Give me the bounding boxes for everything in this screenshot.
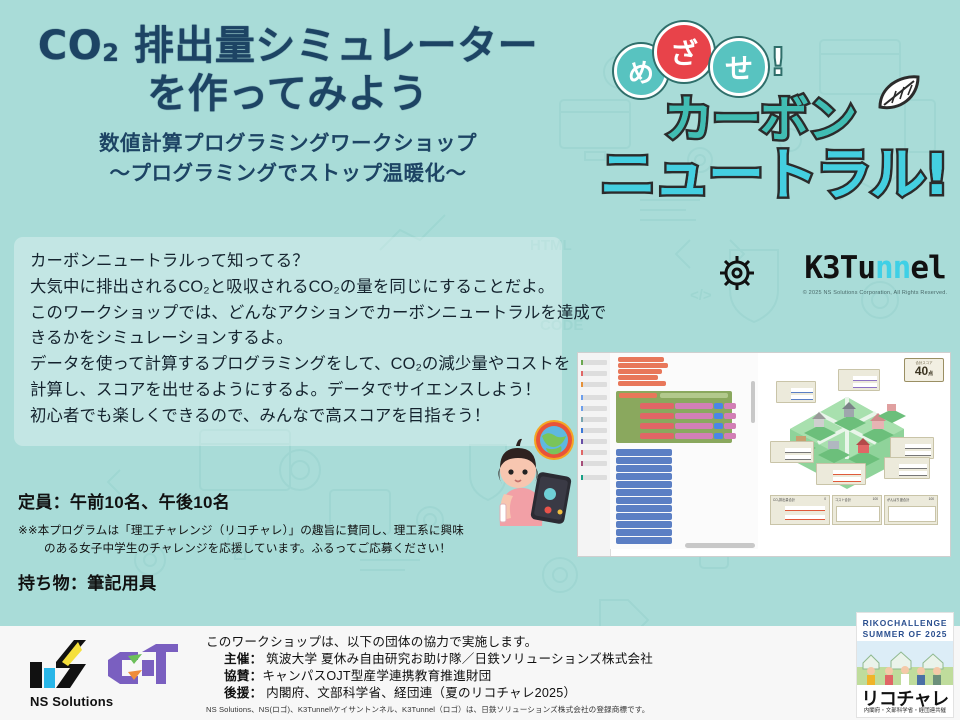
footer-row-label: 主催： [224, 652, 262, 666]
total-label: コスト合計 [835, 497, 851, 502]
screenshot-score-box: 合計スコア 40点 [904, 358, 944, 382]
footer-row-value: キャンパスOJT型産学連携教育推進財団 [262, 669, 491, 683]
disclaimer-line-2: のある女子中学生のチャレンジを応援しています。ふるってご応募ください！ [18, 540, 578, 558]
footer-trademark-notice: NS Solutions、NS(ロゴ)、K3Tunnel\ケイサントンネル、K3… [206, 704, 649, 715]
ns-solutions-logo [26, 638, 96, 694]
k3-part2: nn [875, 250, 910, 286]
k3tunnel-logo: K3Tunnel © 2025 NS Solutions Corporation… [800, 250, 950, 296]
description-line: このワークショップでは、どんなアクションでカーボンニュートラルを達成で [30, 301, 546, 327]
riko-sub: 内閣府・文部科学省・経団連共催 [857, 706, 953, 714]
k3-part3: el [910, 250, 945, 286]
logo-neutral: ニュートラル! [600, 130, 948, 211]
app-screenshot: 合計スコア 40点 [577, 352, 951, 557]
main-teal-section: HTML CODE </> </> CO2 排出量シミュレーター を作ってみよう… [0, 0, 960, 626]
screenshot-value-card [776, 381, 816, 403]
total-label: CO₂排出量合計 [773, 497, 795, 502]
rikochallenge-badge: RIKOCHALLENGE SUMMER OF 2025 [856, 612, 954, 718]
riko-illustration [857, 641, 953, 685]
description-line: データを使って計算するプログラミングをして、CO₂の減少量やコストを [30, 352, 546, 378]
k3tunnel-wordmark: K3Tunnel [800, 250, 950, 286]
svg-text:</>: </> [690, 287, 712, 304]
footer-row-value: 内閣府、文部科学省、経団連（夏のリコチャレ2025） [266, 686, 576, 700]
riko-line-1: RIKOCHALLENGE [857, 618, 953, 628]
screenshot-score-value: 40点 [905, 364, 943, 378]
capacity-note: 定員：午前10名、午後10名 [18, 488, 578, 513]
total-value: 0 [824, 497, 826, 501]
screenshot-total-co2: CO₂排出量合計 0 [770, 495, 830, 525]
footer-row-kyosan: 協賛：キャンパスOJT型産学連携教育推進財団 [206, 668, 846, 685]
gear-icon [714, 250, 760, 296]
screenshot-toolbox-sidebar [578, 353, 611, 556]
screenshot-value-card [816, 463, 866, 485]
footer-head: このワークショップは、以下の団体の協力で実施します。 [206, 634, 846, 651]
screenshot-value-card [884, 457, 930, 479]
footer-row-value: 筑波大学 夏休み自由研究お助け隊／日鉄ソリューションズ株式会社 [266, 652, 653, 666]
notes-block: 定員：午前10名、午後10名 ※※本プログラムは「理工チャレンジ（リコチャレ）」… [18, 488, 578, 594]
screenshot-value-card [838, 369, 880, 391]
description-line: 大気中に排出されるCO₂と吸収されるCO₂の量を同じにすることだよ。 [30, 275, 546, 301]
footer-row-label: 協賛： [224, 669, 262, 683]
description-line: 計算し、スコアを出せるようにするよ。データでサイエンスしよう！ [30, 378, 546, 404]
screenshot-total-cost: コスト合計 100 [832, 495, 882, 525]
total-value: 100 [929, 497, 934, 501]
page-title: CO2 排出量シミュレーター を作ってみよう 数値計算プログラミングワークショッ… [18, 26, 558, 189]
cojt-logo [104, 642, 182, 694]
footer-row-koen: 後援： 内閣府、文部科学省、経団連（夏のリコチャレ2025） [206, 685, 846, 702]
screenshot-block-canvas [610, 353, 758, 549]
ns-solutions-label: NS Solutions [30, 694, 113, 709]
footer-logos: NS Solutions [16, 636, 186, 716]
bubble-za: ざ [654, 22, 714, 82]
mezase-carbon-neutral-logo: め ざ せ ! カーボン カーボン ニュートラル! ニュートラル! [592, 18, 952, 223]
k3tunnel-copyright: © 2025 NS Solutions Corporation, All Rig… [800, 290, 950, 296]
footer: NS Solutions このワークショップは、以下の団体の協力で実施します。 … [0, 626, 960, 720]
k3-part1: K3Tu [804, 250, 875, 286]
disclaimer-line-1: ※※本プログラムは「理工チャレンジ（リコチャレ）」の趣旨に賛同し、理工系に興味 [18, 522, 578, 540]
leaf-icon [874, 73, 944, 113]
description-line: 初心者でも楽しくできるので、みんなで高スコアを目指そう！ [30, 404, 546, 430]
bring-note: 持ち物：筆記用具 [18, 569, 578, 594]
screenshot-simulation-panel: 合計スコア 40点 [764, 353, 950, 556]
footer-row-label: 後援： [224, 686, 262, 700]
description-line: きるかをシミュレーションするよ。 [30, 326, 546, 352]
screenshot-total-effort: がんばり度合計 100 [884, 495, 938, 525]
title-co: CO [38, 23, 102, 69]
poster-root: HTML CODE </> </> CO2 排出量シミュレーター を作ってみよう… [0, 0, 960, 720]
hot-earth-icon [534, 420, 574, 460]
footer-row-shusai: 主催： 筑波大学 夏休み自由研究お助け隊／日鉄ソリューションズ株式会社 [206, 651, 846, 668]
description-panel: カーボンニュートラルって知ってる？ 大気中に排出されるCO₂と吸収されるCO₂の… [14, 237, 562, 446]
screenshot-value-card [890, 437, 934, 459]
title-line-1: CO2 排出量シミュレーター [18, 26, 558, 68]
screenshot-value-card [770, 441, 814, 463]
title-line-2: を作ってみよう [18, 74, 558, 116]
total-value: 100 [873, 497, 878, 501]
footer-organizers: このワークショップは、以下の団体の協力で実施します。 主催： 筑波大学 夏休み自… [206, 634, 846, 702]
subtitle-line-2: 〜プログラミングでストップ温暖化〜 [18, 159, 558, 189]
subtitle-line-1: 数値計算プログラミングワークショップ [18, 129, 558, 159]
riko-line-2: SUMMER OF 2025 [857, 629, 953, 639]
description-line: カーボンニュートラルって知ってる？ [30, 249, 546, 275]
title-co2-subscript: 2 [102, 39, 119, 67]
title-line1-rest: 排出量シミュレーター [134, 23, 538, 69]
subtitle: 数値計算プログラミングワークショップ 〜プログラミングでストップ温暖化〜 [18, 129, 558, 188]
total-label: がんばり度合計 [887, 497, 909, 502]
